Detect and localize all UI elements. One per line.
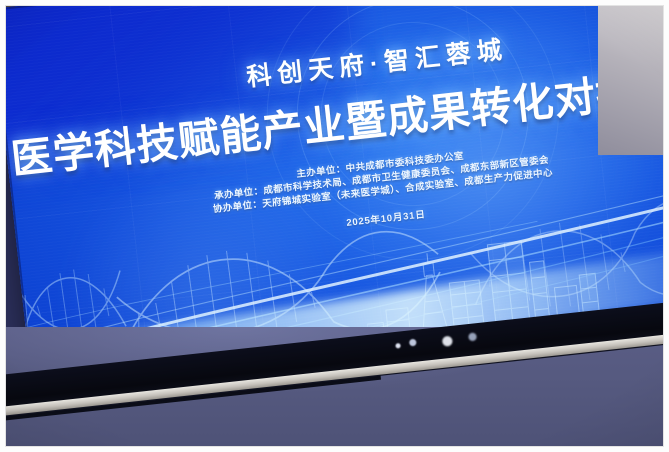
side-wall bbox=[598, 5, 664, 155]
photo-container: 科创天府·智汇蓉城 医学科技赋能产业暨成果转化对接活动 主办单位：中共成都市委科… bbox=[0, 0, 669, 452]
conference-hall-scene: 科创天府·智汇蓉城 医学科技赋能产业暨成果转化对接活动 主办单位：中共成都市委科… bbox=[5, 5, 664, 447]
